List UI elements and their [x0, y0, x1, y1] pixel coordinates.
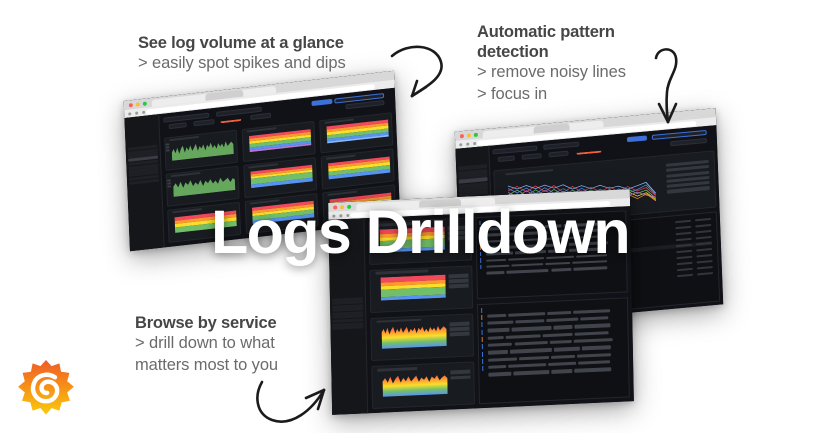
tab-patterns[interactable]: [577, 148, 601, 155]
minimize-icon[interactable]: [136, 102, 140, 106]
panel-legend: [450, 370, 471, 396]
service-select[interactable]: [493, 145, 537, 154]
include-button[interactable]: [676, 267, 693, 271]
annotation-bullet: > drill down to what: [135, 333, 278, 355]
annotation-heading: Browse by service: [135, 313, 278, 333]
annotation-bullet: > remove noisy lines: [477, 62, 626, 84]
panel-service-rainbow[interactable]: [369, 265, 473, 313]
tab-logs[interactable]: [168, 122, 186, 128]
annotation-pattern-detection: Automatic pattern detection > remove noi…: [477, 22, 626, 106]
minimize-icon[interactable]: [467, 133, 471, 137]
forward-icon[interactable]: [466, 142, 469, 145]
exclude-button[interactable]: [697, 272, 714, 276]
panel-legend: [448, 274, 469, 300]
annotation-bullet: matters most to you: [135, 355, 278, 377]
promo-canvas: Logs Drilldown See log volume at a glanc…: [0, 0, 840, 433]
tab-labels[interactable]: [522, 153, 542, 160]
panel-title: [376, 318, 421, 323]
curved-arrow-down-left-icon: [386, 40, 452, 110]
maximize-icon[interactable]: [474, 133, 478, 137]
tab-labels[interactable]: [193, 119, 214, 126]
curved-arrow-up-right-icon: [250, 376, 338, 430]
run-query-button[interactable]: [311, 99, 332, 106]
panel-rainbow-stack[interactable]: [242, 120, 316, 162]
hooked-arrow-down-icon: [646, 44, 690, 130]
run-query-button[interactable]: [627, 135, 647, 142]
sidebar-item[interactable]: [333, 325, 364, 329]
panel-legend: [449, 322, 470, 348]
log-lines-bottom[interactable]: [477, 297, 630, 405]
page-title: Logs Drilldown: [0, 202, 840, 263]
annotation-log-volume: See log volume at a glance > easily spot…: [138, 33, 346, 75]
panel-rainbow-stack[interactable]: [321, 148, 395, 190]
tab-fields[interactable]: [548, 151, 568, 158]
panel-service-rainbow[interactable]: [370, 313, 474, 361]
panel-title: [377, 367, 418, 372]
reload-icon[interactable]: [473, 141, 476, 144]
label-select[interactable]: [543, 142, 578, 150]
back-icon[interactable]: [128, 112, 131, 115]
back-icon[interactable]: [459, 143, 462, 146]
tab-patterns[interactable]: [250, 113, 271, 120]
panel-rainbow-stack[interactable]: [243, 156, 317, 198]
tab-fields[interactable]: [221, 116, 242, 123]
panel-title: [375, 270, 428, 275]
exclude-button[interactable]: [696, 266, 713, 270]
close-icon[interactable]: [460, 134, 464, 138]
panel-service-rainbow[interactable]: [371, 361, 475, 409]
panel-legend: [665, 160, 710, 203]
annotation-bullet: > focus in: [477, 84, 626, 106]
annotation-browse-by-service: Browse by service > drill down to what m…: [135, 313, 278, 377]
forward-icon[interactable]: [135, 111, 138, 114]
reload-icon[interactable]: [142, 110, 145, 113]
plot-area: [381, 275, 446, 301]
maximize-icon[interactable]: [143, 101, 147, 105]
plot-area: [381, 323, 446, 349]
annotation-heading: Automatic pattern detection: [477, 22, 626, 62]
open-in-explore-button[interactable]: [346, 100, 385, 109]
annotation-bullet: > easily spot spikes and dips: [138, 53, 346, 75]
include-button[interactable]: [677, 273, 694, 277]
annotation-heading: See log volume at a glance: [138, 33, 346, 53]
panel-green-timeseries[interactable]: [164, 129, 238, 171]
grafana-logo: [18, 360, 74, 418]
open-in-explore-button[interactable]: [670, 138, 708, 146]
close-icon[interactable]: [129, 103, 133, 107]
tab-logs[interactable]: [497, 156, 515, 163]
plot-area: [382, 371, 447, 397]
panel-rainbow-stack[interactable]: [319, 112, 393, 154]
